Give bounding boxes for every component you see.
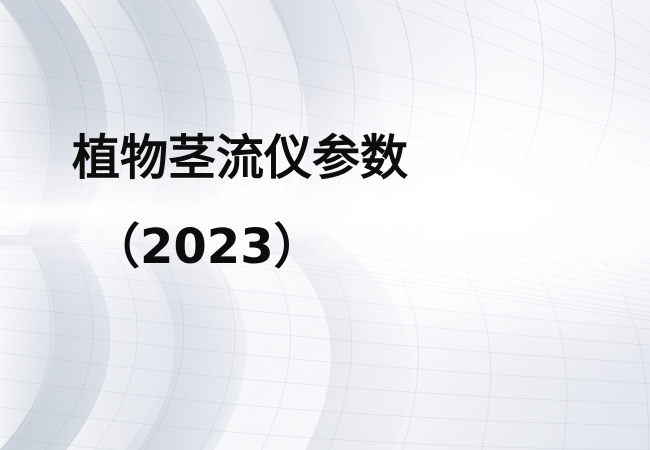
title-slide: 植物茎流仪参数 （2023） bbox=[0, 0, 650, 450]
page-title: 植物茎流仪参数 bbox=[72, 133, 408, 184]
slide-subtitle-year: （2023） bbox=[92, 222, 322, 273]
slide-text-block: 植物茎流仪参数 （2023） bbox=[0, 0, 650, 450]
